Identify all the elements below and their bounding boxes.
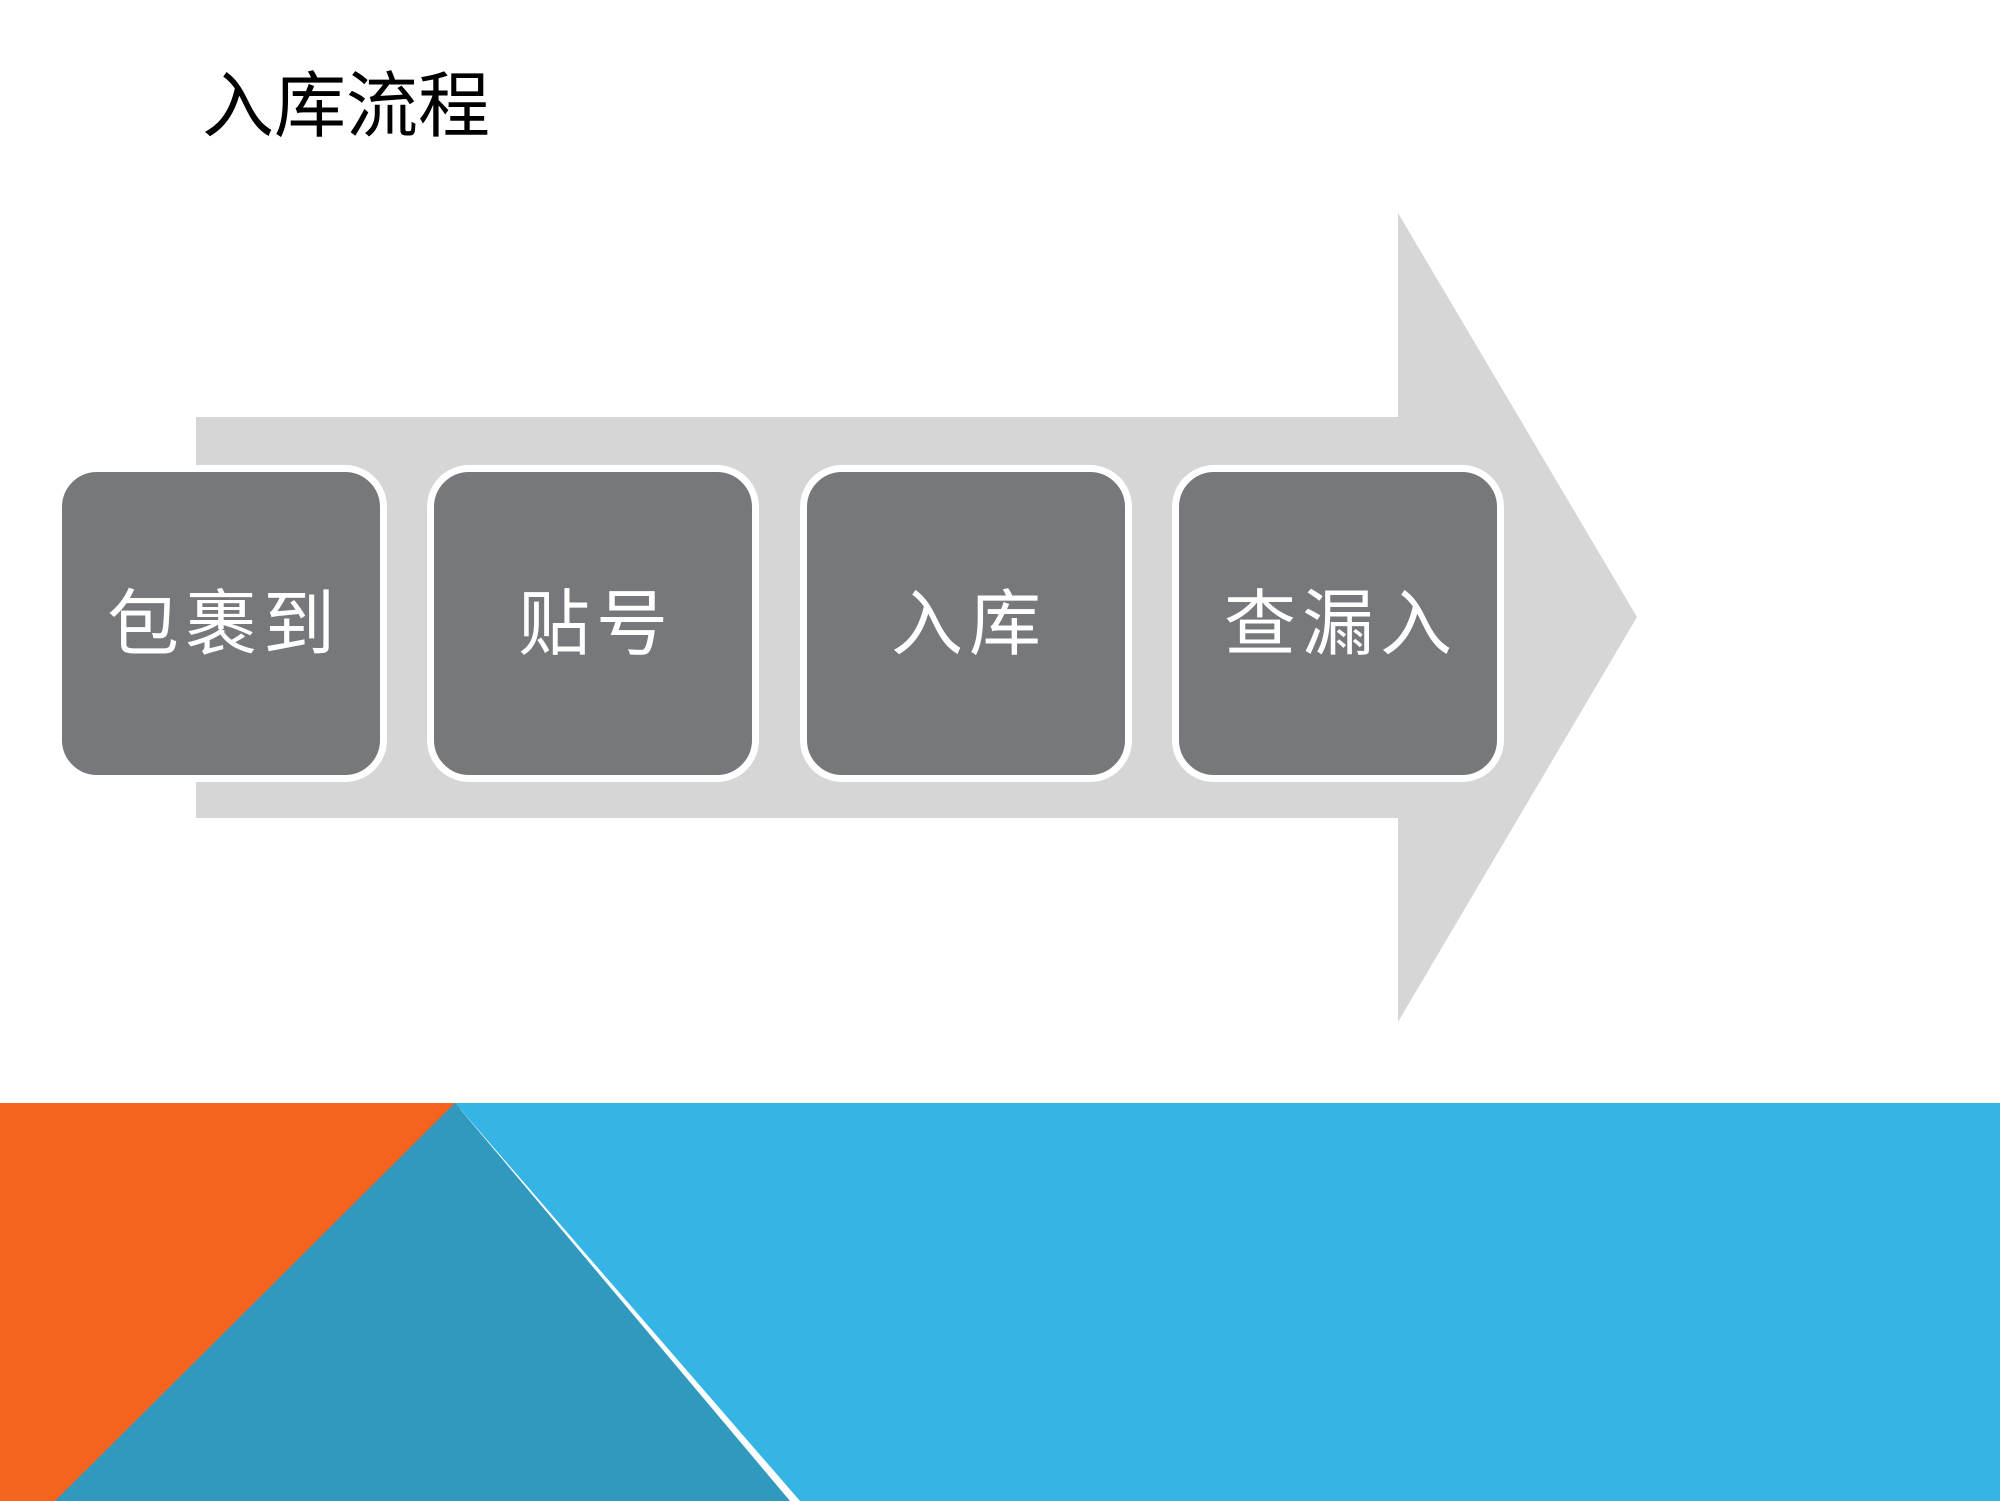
process-step-3[interactable]: 入库 bbox=[800, 465, 1132, 782]
process-step-1-label: 包裹到 bbox=[101, 588, 341, 660]
slide-canvas: 入库流程 包裹到 贴号 入库 查漏入 bbox=[0, 0, 2000, 1501]
process-step-1[interactable]: 包裹到 bbox=[55, 465, 387, 782]
footer-decoration bbox=[0, 1103, 2000, 1501]
process-step-4[interactable]: 查漏入 bbox=[1172, 465, 1504, 782]
process-step-3-label: 入库 bbox=[885, 588, 1047, 660]
process-step-2[interactable]: 贴号 bbox=[427, 465, 759, 782]
page-title: 入库流程 bbox=[202, 66, 490, 149]
process-step-4-label: 查漏入 bbox=[1218, 588, 1458, 660]
process-step-2-label: 贴号 bbox=[512, 588, 674, 660]
